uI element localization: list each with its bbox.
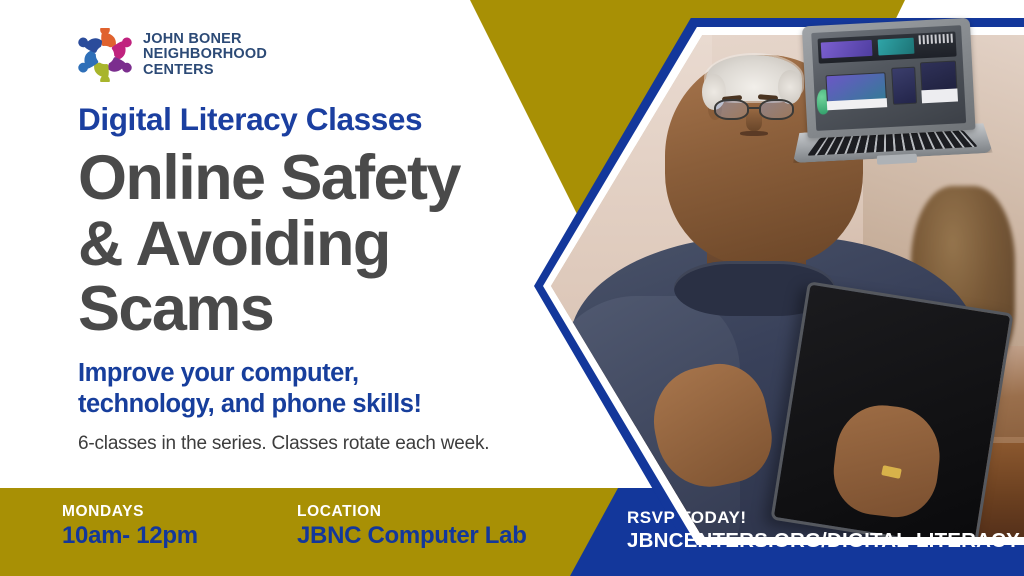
brand-name-line2: NEIGHBORHOOD (143, 47, 267, 63)
brand-lockup: JOHN BONER NEIGHBORHOOD CENTERS (78, 28, 267, 82)
series-note: 6-classes in the series. Classes rotate … (78, 433, 578, 455)
rsvp-url[interactable]: JBNCENTERS.ORG/DIGITAL-LITERACY (627, 529, 1020, 553)
rsvp-headline: RSVP TODAY! (627, 508, 1020, 528)
headline-line-3: Scams (78, 277, 558, 343)
brand-name-line3: CENTERS (143, 63, 267, 79)
location-value: JBNC Computer Lab (297, 522, 527, 550)
headline-line-1: Online Safety (78, 146, 558, 212)
headline-line-2: & Avoiding (78, 212, 558, 278)
page-title: Online Safety & Avoiding Scams (78, 146, 558, 343)
brand-name: JOHN BONER NEIGHBORHOOD CENTERS (143, 32, 267, 79)
flyer-canvas: JOHN BONER NEIGHBORHOOD CENTERS Digital … (0, 0, 1024, 576)
subheading-line-1: Improve your computer, (78, 358, 548, 389)
laptop-mockup-graphic (786, 17, 994, 189)
eyebrow-title: Digital Literacy Classes (78, 101, 422, 138)
schedule-label: MONDAYS (62, 503, 198, 521)
location-block: LOCATION JBNC Computer Lab (297, 503, 527, 550)
brand-name-line1: JOHN BONER (143, 32, 267, 48)
rsvp-cta[interactable]: RSVP TODAY! JBNCENTERS.ORG/DIGITAL-LITER… (627, 508, 1020, 553)
jbnc-circle-people-logo-icon (78, 28, 132, 82)
schedule-value: 10am- 12pm (62, 522, 198, 550)
subheading-line-2: technology, and phone skills! (78, 389, 548, 420)
subheading: Improve your computer, technology, and p… (78, 358, 548, 420)
schedule-block: MONDAYS 10am- 12pm (62, 503, 198, 550)
location-label: LOCATION (297, 503, 527, 521)
left-content-column: JOHN BONER NEIGHBORHOOD CENTERS Digital … (0, 0, 560, 488)
